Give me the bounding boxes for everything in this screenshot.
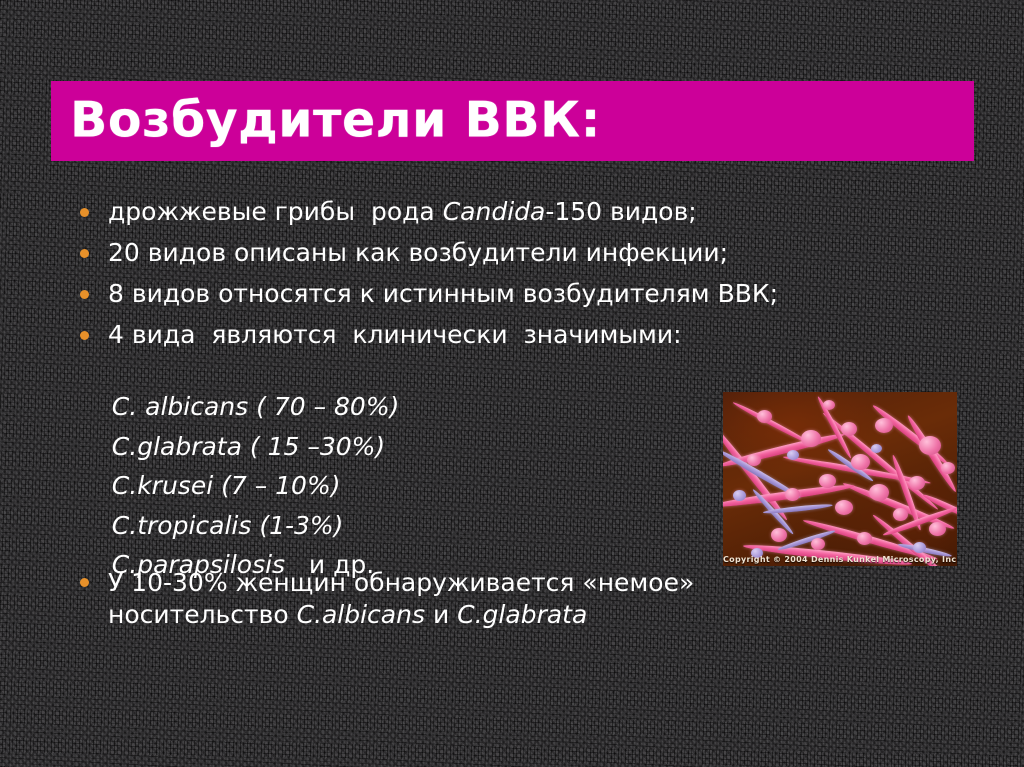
yeast-spore [811,538,825,550]
yeast-spore [909,476,925,490]
micrograph-field [723,392,957,566]
yeast-spore [747,454,761,466]
yeast-spore [785,488,800,501]
candida-micrograph: Copyright © 2004 Dennis Kunkel Microscop… [723,392,957,566]
bullet-item-5: У 10-30% женщин обнаруживается «немое» н… [80,567,880,631]
bullet-dot-icon [80,249,89,258]
bullet-dot-icon [80,578,89,587]
yeast-spore [919,436,941,455]
bullet-item-3: 8 видов относятся к истинным возбудителя… [80,279,778,309]
bullet-item-5-text: У 10-30% женщин обнаруживается «немое» н… [108,567,878,631]
bullet-dot-icon [80,290,89,299]
bullet-item-2-text: 20 видов описаны как возбудители инфекци… [108,238,728,268]
bullet-item-4-text: 4 вида являются клинически значимыми: [108,320,682,350]
yeast-spore [851,454,870,470]
yeast-spore [787,450,799,460]
yeast-spore [913,542,926,553]
yeast-spore [835,500,853,515]
bullet-item-2: 20 видов описаны как возбудители инфекци… [80,238,728,268]
micrograph-copyright: Copyright © 2004 Dennis Kunkel Microscop… [723,555,957,564]
bullet-item-1-text: дрожжевые грибы рода Candida-150 видов; [108,197,697,227]
yeast-spore [733,490,746,501]
title-banner: Возбудители ВВК: [51,81,974,161]
hypha-filament [882,505,957,538]
page-title: Возбудители ВВК: [70,96,601,145]
bullet-dot-icon [80,331,89,340]
bullet-item-1: дрожжевые грибы рода Candida-150 видов; [80,197,697,227]
yeast-spore [819,474,836,488]
yeast-spore [869,484,889,501]
yeast-spore [771,528,787,542]
yeast-spore [941,462,955,474]
bullet-item-4: 4 вида являются клинически значимыми: [80,320,682,350]
yeast-spore [929,522,946,536]
bullet-dot-icon [80,208,89,217]
yeast-spore [841,422,857,436]
slide-canvas: Возбудители ВВК: дрожжевые грибы рода Ca… [0,0,1024,767]
yeast-spore [857,532,872,545]
yeast-spore [823,400,835,410]
yeast-spore [871,444,882,453]
yeast-spore [757,410,772,423]
yeast-spore [801,430,821,447]
bullet-item-3-text: 8 видов относятся к истинным возбудителя… [108,279,778,309]
yeast-spore [893,508,908,521]
yeast-spore [875,418,893,433]
